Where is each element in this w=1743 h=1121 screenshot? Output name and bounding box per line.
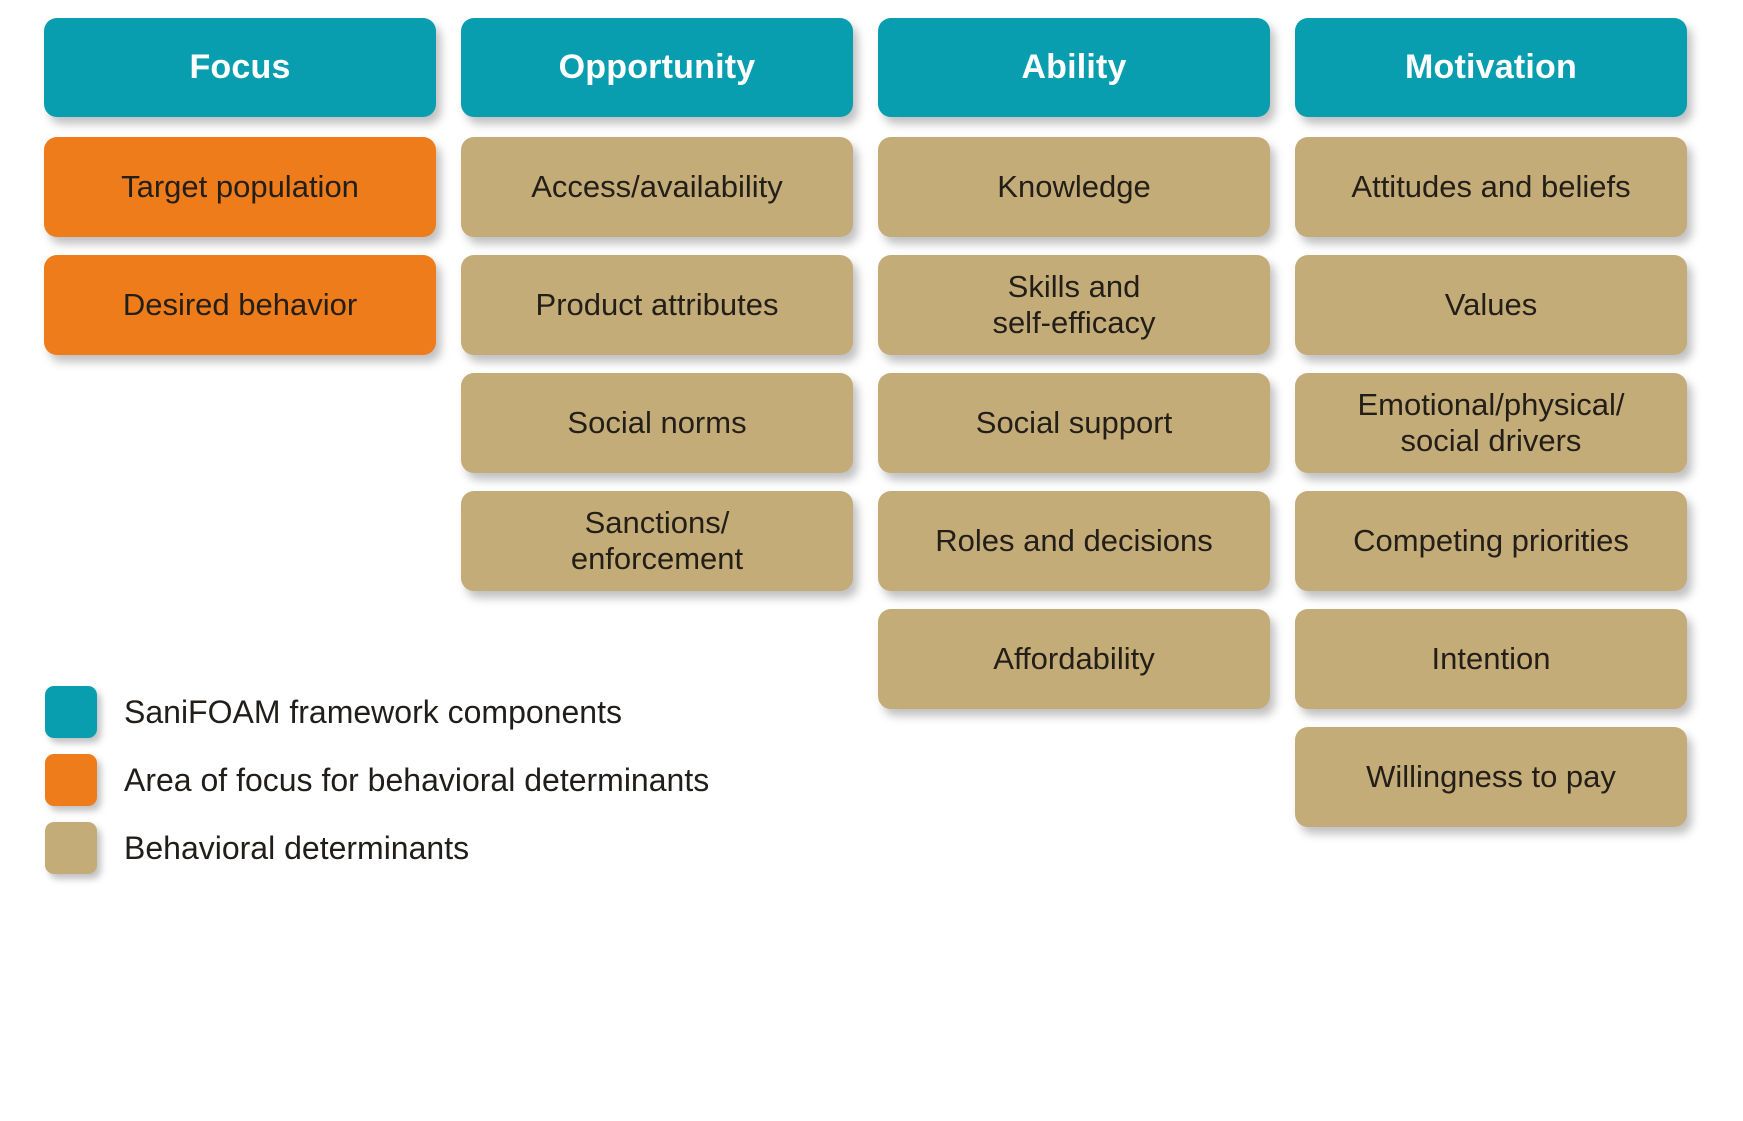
legend-swatch-tan-icon: [45, 822, 97, 874]
cell-social-support: Social support: [878, 373, 1270, 473]
cell-values: Values: [1295, 255, 1687, 355]
column-opportunity: Opportunity Access/availability Product …: [461, 18, 853, 609]
column-header-opportunity: Opportunity: [461, 18, 853, 117]
sanifoam-framework-diagram: Focus Target population Desired behavior…: [0, 0, 1743, 1121]
cell-intention: Intention: [1295, 609, 1687, 709]
legend-swatch-teal-icon: [45, 686, 97, 738]
column-header-ability: Ability: [878, 18, 1270, 117]
cell-desired-behavior: Desired behavior: [44, 255, 436, 355]
column-header-motivation: Motivation: [1295, 18, 1687, 117]
legend-item-behavioral-determinants: Behavioral determinants: [45, 814, 865, 882]
cell-skills-self-efficacy: Skills andself-efficacy: [878, 255, 1270, 355]
column-ability: Ability Knowledge Skills andself-efficac…: [878, 18, 1270, 727]
cell-knowledge: Knowledge: [878, 137, 1270, 237]
cell-social-norms: Social norms: [461, 373, 853, 473]
legend-label-framework-components: SaniFOAM framework components: [124, 694, 622, 731]
column-motivation: Motivation Attitudes and beliefs Values …: [1295, 18, 1687, 845]
legend-swatch-orange-icon: [45, 754, 97, 806]
cell-affordability: Affordability: [878, 609, 1270, 709]
cell-sanctions-enforcement: Sanctions/enforcement: [461, 491, 853, 591]
cell-product-attributes: Product attributes: [461, 255, 853, 355]
column-focus: Focus Target population Desired behavior: [44, 18, 436, 373]
cell-target-population: Target population: [44, 137, 436, 237]
legend-label-behavioral-determinants: Behavioral determinants: [124, 830, 469, 867]
cell-access-availability: Access/availability: [461, 137, 853, 237]
column-header-focus: Focus: [44, 18, 436, 117]
cell-attitudes-and-beliefs: Attitudes and beliefs: [1295, 137, 1687, 237]
cell-willingness-to-pay: Willingness to pay: [1295, 727, 1687, 827]
legend-label-area-of-focus: Area of focus for behavioral determinant…: [124, 762, 709, 799]
legend: SaniFOAM framework components Area of fo…: [45, 678, 865, 882]
cell-competing-priorities: Competing priorities: [1295, 491, 1687, 591]
cell-emotional-physical-social-drivers: Emotional/physical/social drivers: [1295, 373, 1687, 473]
cell-roles-and-decisions: Roles and decisions: [878, 491, 1270, 591]
legend-item-area-of-focus: Area of focus for behavioral determinant…: [45, 746, 865, 814]
legend-item-framework-components: SaniFOAM framework components: [45, 678, 865, 746]
